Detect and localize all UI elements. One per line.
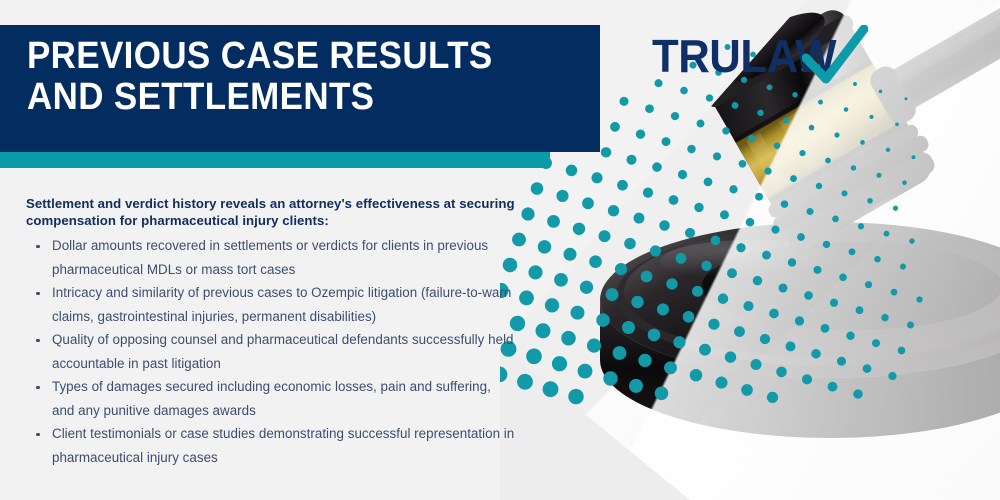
list-item: Types of damages secured including econo… bbox=[26, 375, 516, 422]
page-title: PREVIOUS CASE RESULTS AND SETTLEMENTS bbox=[27, 36, 542, 118]
list-item: Client testimonials or case studies demo… bbox=[26, 422, 516, 469]
title-accent-bar bbox=[0, 152, 550, 168]
list-item: Quality of opposing counsel and pharmace… bbox=[26, 328, 516, 375]
brand-logo[interactable]: TRULAW bbox=[652, 33, 846, 79]
content-block: Settlement and verdict history reveals a… bbox=[26, 196, 516, 469]
lede-paragraph: Settlement and verdict history reveals a… bbox=[26, 196, 516, 229]
list-item: Intricacy and similarity of previous cas… bbox=[26, 281, 516, 328]
bullet-list: Dollar amounts recovered in settlements … bbox=[26, 234, 516, 469]
checkmark-icon bbox=[802, 25, 868, 87]
list-item: Dollar amounts recovered in settlements … bbox=[26, 234, 516, 281]
